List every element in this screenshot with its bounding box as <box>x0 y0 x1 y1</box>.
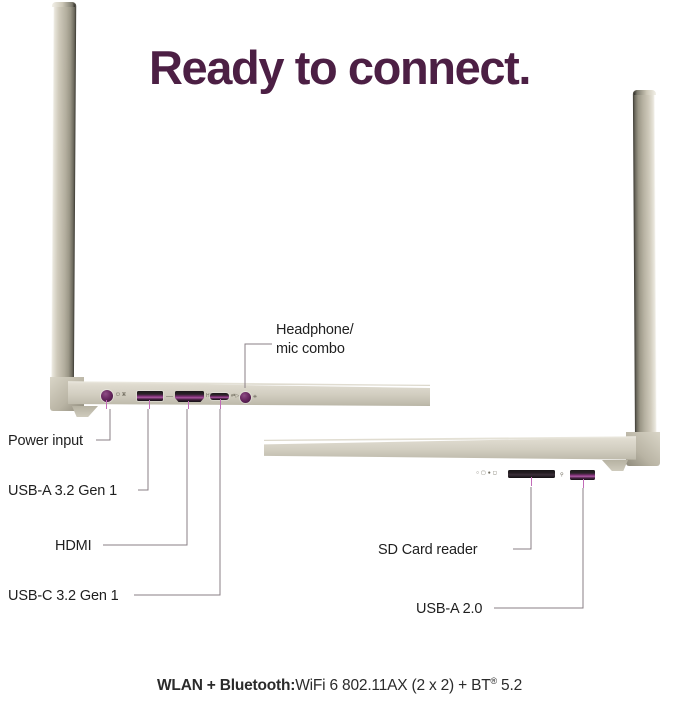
laptop-left-display-lid <box>51 2 76 410</box>
port-sd-card-marker <box>531 477 532 486</box>
callout-sd-card-reader: SD Card reader <box>378 541 477 560</box>
wlan-bluetooth-label: WLAN + Bluetooth: <box>157 677 295 694</box>
port-headphone-mic-combo <box>240 392 251 403</box>
port-usb-a-20-marker <box>583 479 584 488</box>
port-power-input-marker <box>106 400 107 409</box>
usb-a-20-glyph: ⚲ <box>560 473 564 478</box>
laptop-left-foot <box>72 406 98 417</box>
port-hdmi <box>175 391 204 402</box>
wlan-bluetooth-spec: WLAN + Bluetooth:WiFi 6 802.11AX (2 x 2)… <box>0 676 679 695</box>
port-hdmi-marker <box>188 401 189 409</box>
callout-hdmi: HDMI <box>55 537 91 556</box>
connectivity-diagram: Ready to connect. ⏻ ▣ HDMI ⇄▷ ⎈ ○ ▢ ● ◻ … <box>0 0 679 705</box>
laptop-left-lid-top-edge <box>52 2 75 7</box>
laptop-right-display-lid <box>633 90 657 462</box>
laptop-right-foot <box>602 460 628 471</box>
port-usb-c-marker <box>220 399 221 409</box>
laptop-right-profile <box>262 90 679 510</box>
callout-headphone-mic-combo: Headphone/ mic combo <box>276 321 354 358</box>
callout-power-input: Power input <box>8 432 83 451</box>
laptop-right-base <box>264 436 636 468</box>
right-side-glyphs: ○ ▢ ● ◻ <box>476 471 497 476</box>
headphone-glyph: ⎈ <box>253 395 257 400</box>
divider-usba-hdmi <box>166 396 173 397</box>
power-glyph: ⏻ ▣ <box>116 393 126 398</box>
laptop-right-lid-top-edge <box>634 90 656 95</box>
callout-usb-a-3-2-gen-1: USB-A 3.2 Gen 1 <box>8 482 117 501</box>
port-usb-a-left-marker <box>149 400 150 409</box>
wlan-bluetooth-value: WiFi 6 802.11AX (2 x 2) + BT <box>295 677 490 694</box>
callout-usb-c-3-2-gen-1: USB-C 3.2 Gen 1 <box>8 587 119 606</box>
callout-usb-a-2-0: USB-A 2.0 <box>416 600 482 619</box>
leader-usb-c-32-gen1 <box>134 409 220 595</box>
usbc-glyph: ⇄▷ <box>231 394 240 399</box>
wlan-bluetooth-value-tail: 5.2 <box>497 677 522 694</box>
